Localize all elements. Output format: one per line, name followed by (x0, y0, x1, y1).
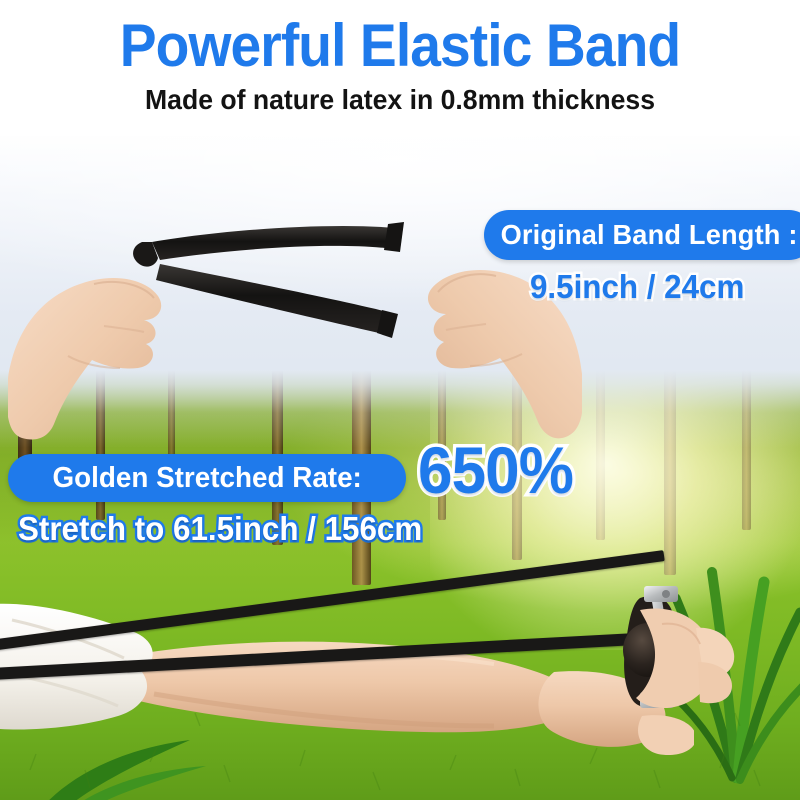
page-title: Powerful Elastic Band (32, 14, 768, 78)
stretched-length-value: Stretch to 61.5inch / 156cm (18, 510, 422, 548)
header-banner: Powerful Elastic Band Made of nature lat… (0, 0, 800, 136)
hand-gripping-pouch (636, 600, 756, 720)
stretched-rate-label: Golden Stretched Rate: (52, 462, 361, 495)
forearm-with-white-sleeve (0, 576, 694, 800)
original-length-value: 9.5inch / 24cm (530, 268, 744, 306)
left-hand-holding-band (8, 228, 233, 443)
stretched-rate-percent: 650% (418, 432, 573, 508)
page-subtitle: Made of nature latex in 0.8mm thickness (20, 84, 780, 116)
product-ad-image: Powerful Elastic Band Made of nature lat… (0, 0, 800, 800)
stretched-rate-badge: Golden Stretched Rate: (8, 454, 406, 502)
original-length-label: Original Band Length : (500, 219, 797, 251)
original-length-badge: Original Band Length : (484, 210, 800, 260)
